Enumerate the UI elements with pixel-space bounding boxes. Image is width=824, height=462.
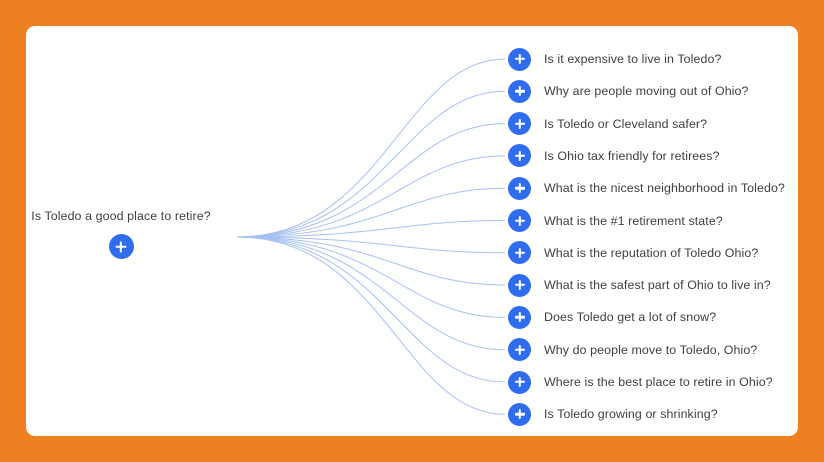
child-node-list: Is it expensive to live in Toledo?Why ar… (508, 26, 798, 436)
plus-icon-child-3[interactable] (508, 144, 531, 167)
plus-icon-child-10[interactable] (508, 371, 531, 394)
child-node[interactable]: Is Ohio tax friendly for retirees? (508, 143, 720, 169)
child-node-label: Why do people move to Toledo, Ohio? (544, 342, 757, 358)
root-node[interactable]: Is Toledo a good place to retire? (26, 208, 216, 259)
plus-icon-child-2[interactable] (508, 112, 531, 135)
child-node[interactable]: What is the reputation of Toledo Ohio? (508, 240, 758, 266)
child-node[interactable]: What is the #1 retirement state? (508, 208, 723, 234)
child-node[interactable]: What is the safest part of Ohio to live … (508, 272, 771, 298)
mindmap-card: Is Toledo a good place to retire? Is it … (26, 26, 798, 436)
child-node[interactable]: Why are people moving out of Ohio? (508, 78, 749, 104)
child-node-label: What is the #1 retirement state? (544, 213, 723, 229)
child-node-label: Does Toledo get a lot of snow? (544, 309, 716, 325)
child-node-label: Where is the best place to retire in Ohi… (544, 374, 773, 390)
edge-path (237, 237, 505, 350)
plus-icon-root[interactable] (109, 234, 134, 259)
edge-path (237, 91, 505, 237)
child-node[interactable]: Why do people move to Toledo, Ohio? (508, 337, 757, 363)
child-node-label: Is Toledo or Cleveland safer? (544, 116, 707, 132)
root-node-label: Is Toledo a good place to retire? (26, 208, 216, 224)
child-node-label: What is the safest part of Ohio to live … (544, 277, 771, 293)
edge-path (237, 124, 505, 237)
plus-icon-child-11[interactable] (508, 403, 531, 426)
edge-path (237, 237, 505, 285)
child-node-label: Is it expensive to live in Toledo? (544, 51, 721, 67)
child-node[interactable]: Where is the best place to retire in Ohi… (508, 369, 773, 395)
child-node[interactable]: Is it expensive to live in Toledo? (508, 46, 721, 72)
child-node-label: Why are people moving out of Ohio? (544, 83, 749, 99)
child-node[interactable]: What is the nicest neighborhood in Toled… (508, 175, 785, 201)
edge-path (237, 237, 505, 382)
child-node-label: Is Toledo growing or shrinking? (544, 406, 718, 422)
app-frame: Is Toledo a good place to retire? Is it … (0, 0, 824, 462)
child-node[interactable]: Is Toledo growing or shrinking? (508, 401, 718, 427)
root-expand-wrap (26, 234, 216, 259)
plus-icon-child-9[interactable] (508, 338, 531, 361)
edge-path (237, 221, 505, 238)
plus-icon-child-6[interactable] (508, 241, 531, 264)
child-node[interactable]: Does Toledo get a lot of snow? (508, 304, 716, 330)
child-node-label: What is the reputation of Toledo Ohio? (544, 245, 758, 261)
plus-icon-child-7[interactable] (508, 274, 531, 297)
edge-path (237, 237, 505, 253)
edge-path (237, 188, 505, 237)
edge-path (237, 59, 505, 237)
child-node[interactable]: Is Toledo or Cleveland safer? (508, 111, 707, 137)
child-node-label: Is Ohio tax friendly for retirees? (544, 148, 720, 164)
plus-icon-child-0[interactable] (508, 48, 531, 71)
plus-icon-child-8[interactable] (508, 306, 531, 329)
plus-icon-child-4[interactable] (508, 177, 531, 200)
edge-path (237, 237, 505, 317)
mindmap-canvas[interactable]: Is Toledo a good place to retire? Is it … (26, 26, 798, 436)
child-node-label: What is the nicest neighborhood in Toled… (544, 180, 785, 196)
plus-icon-child-5[interactable] (508, 209, 531, 232)
edge-path (237, 237, 505, 414)
edge-path (237, 156, 505, 237)
plus-icon-child-1[interactable] (508, 80, 531, 103)
